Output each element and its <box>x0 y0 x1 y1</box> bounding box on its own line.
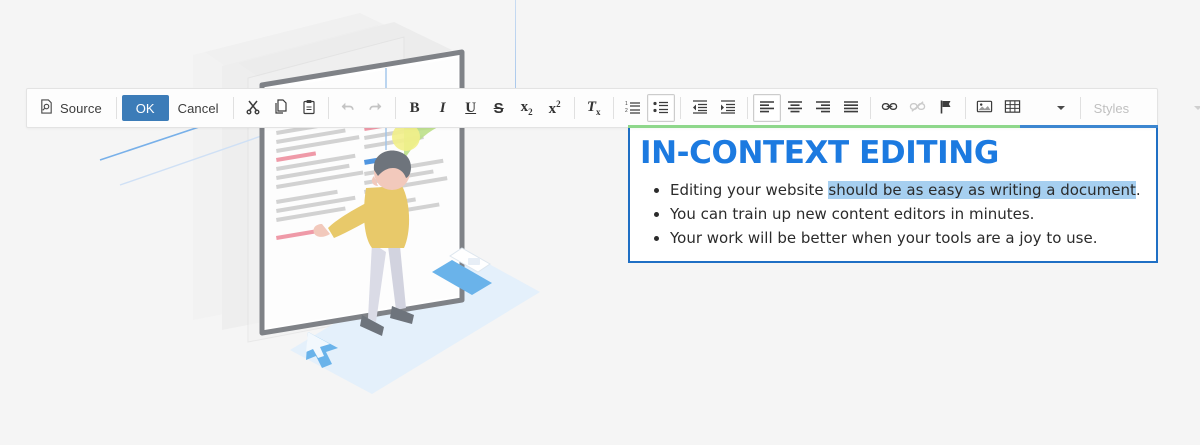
list-item-text: Your work will be better when your tools… <box>670 229 1097 247</box>
toolbar-group-links <box>876 94 960 122</box>
scissors-icon <box>245 99 261 118</box>
list-item-text-after: . <box>1136 181 1141 199</box>
bold-button[interactable]: B <box>401 94 429 122</box>
source-button[interactable]: Source <box>33 94 111 122</box>
underline-button[interactable]: U <box>457 94 485 122</box>
unlink-icon <box>909 98 926 118</box>
bulleted-list-button[interactable] <box>647 94 675 122</box>
anchor-button[interactable] <box>932 94 960 122</box>
bold-icon: B <box>410 100 420 117</box>
italic-icon: I <box>440 100 446 117</box>
remove-format-icon: Tx <box>587 99 601 117</box>
toolbar-group-alignment <box>753 94 865 122</box>
cancel-button[interactable]: Cancel <box>169 94 228 122</box>
align-right-icon <box>815 99 831 118</box>
copy-button[interactable] <box>267 94 295 122</box>
undo-button[interactable] <box>334 94 362 122</box>
outdent-icon <box>692 99 708 118</box>
separator <box>395 97 396 119</box>
separator <box>116 97 117 119</box>
toolbar-group-indent <box>686 94 742 122</box>
link-icon <box>881 98 898 118</box>
flag-icon <box>938 99 954 118</box>
svg-text:2: 2 <box>625 108 628 114</box>
toolbar-group-insert <box>971 94 1075 122</box>
align-center-icon <box>787 99 803 118</box>
screen-root: Source OK Cancel <box>0 0 1200 445</box>
more-button[interactable] <box>1047 94 1075 122</box>
paste-button[interactable] <box>295 94 323 122</box>
toolbar-group-clipboard <box>239 94 323 122</box>
illustration <box>0 0 620 445</box>
list-item-text: You can train up new content editors in … <box>670 205 1034 223</box>
editor-toolbar: Source OK Cancel <box>26 88 1158 128</box>
toolbar-group-lists: 12 <box>619 94 675 122</box>
separator <box>1080 97 1081 119</box>
strikethrough-button[interactable]: S <box>485 94 513 122</box>
list-item-text-before: Editing your website <box>670 181 828 199</box>
outdent-button[interactable] <box>686 94 714 122</box>
italic-button[interactable]: I <box>429 94 457 122</box>
toolbar-group-history <box>334 94 390 122</box>
undo-arrow-icon <box>339 98 356 118</box>
styles-dropdown[interactable]: Styles <box>1086 94 1200 122</box>
list-item[interactable]: You can train up new content editors in … <box>670 202 1156 226</box>
list-item[interactable]: Your work will be better when your tools… <box>670 226 1156 250</box>
cut-button[interactable] <box>239 94 267 122</box>
list-item[interactable]: Editing your website should be as easy a… <box>670 178 1156 202</box>
subscript-button[interactable]: x2 <box>513 94 541 122</box>
progress-filled <box>628 125 1020 128</box>
progress-remaining <box>1020 125 1158 128</box>
page-title: IN-CONTEXT EDITING <box>630 125 1156 172</box>
align-left-button[interactable] <box>753 94 781 122</box>
svg-text:1: 1 <box>625 101 628 107</box>
editable-content-region[interactable]: IN-CONTEXT EDITING Editing your website … <box>628 125 1158 263</box>
separator <box>747 97 748 119</box>
toolbar-group-basic-styles: B I U S x2 x2 <box>401 94 569 122</box>
align-right-button[interactable] <box>809 94 837 122</box>
bulleted-list-icon <box>653 99 669 118</box>
copy-icon <box>273 99 289 118</box>
separator <box>965 97 966 119</box>
table-icon <box>1004 98 1021 118</box>
redo-arrow-icon <box>367 98 384 118</box>
table-button[interactable] <box>999 94 1027 122</box>
separator <box>870 97 871 119</box>
numbered-list-button[interactable]: 12 <box>619 94 647 122</box>
separator <box>574 97 575 119</box>
align-left-icon <box>759 99 775 118</box>
underline-icon: U <box>465 100 476 117</box>
separator <box>328 97 329 119</box>
justify-button[interactable] <box>837 94 865 122</box>
styles-dropdown-label: Styles <box>1094 101 1129 116</box>
chevron-down-icon <box>1194 106 1200 110</box>
cursor-guide-line <box>515 0 516 90</box>
source-icon <box>39 99 54 117</box>
clipboard-icon <box>301 99 317 118</box>
separator <box>613 97 614 119</box>
source-button-label: Source <box>60 101 102 116</box>
redo-button[interactable] <box>362 94 390 122</box>
separator <box>680 97 681 119</box>
superscript-icon: x2 <box>549 99 561 118</box>
chevron-down-icon <box>1057 106 1065 110</box>
numbered-list-icon: 12 <box>625 99 641 118</box>
indent-icon <box>720 99 736 118</box>
unlink-button[interactable] <box>904 94 932 122</box>
align-center-button[interactable] <box>781 94 809 122</box>
image-button[interactable] <box>971 94 999 122</box>
selected-text[interactable]: should be as easy as writing a document <box>828 181 1136 199</box>
separator <box>233 97 234 119</box>
image-icon <box>976 98 993 118</box>
indent-button[interactable] <box>714 94 742 122</box>
strikethrough-icon: S <box>494 100 504 117</box>
subscript-icon: x2 <box>521 99 533 117</box>
save-progress-bar <box>628 125 1158 128</box>
remove-format-button[interactable]: Tx <box>580 94 608 122</box>
content-bullet-list: Editing your website should be as easy a… <box>630 178 1156 251</box>
justify-icon <box>843 99 859 118</box>
toolbar-group-document: Source OK Cancel <box>33 94 228 122</box>
superscript-button[interactable]: x2 <box>541 94 569 122</box>
ok-button[interactable]: OK <box>122 95 169 121</box>
link-button[interactable] <box>876 94 904 122</box>
